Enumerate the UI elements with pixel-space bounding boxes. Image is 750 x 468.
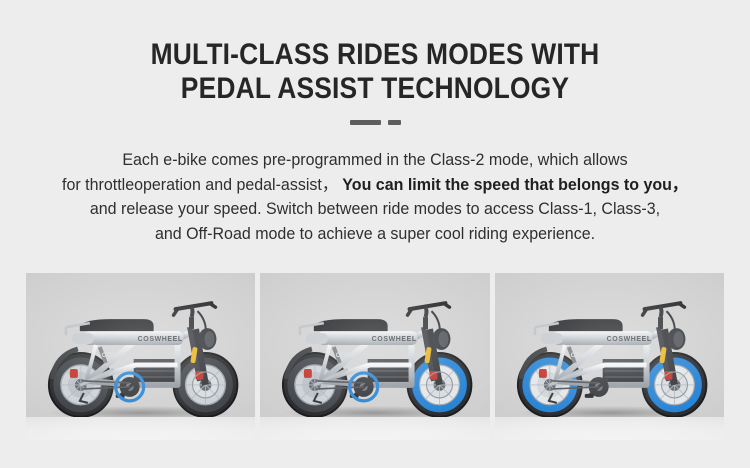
description-line-1: Each e-bike comes pre-programmed in the … (11, 148, 739, 173)
promo-banner: MULTI-CLASS RIDES MODES WITH PEDAL ASSIS… (0, 0, 750, 468)
class-2-mode-image[interactable]: COSWHEEL CT20 (26, 273, 255, 440)
page-title-line-1: MULTI-CLASS RIDES MODES WITH (45, 38, 705, 72)
description-text: Each e-bike comes pre-programmed in the … (11, 148, 739, 246)
off-road-mode-image[interactable]: COSWHEEL CT20 (495, 273, 724, 440)
studio-floor-3 (495, 417, 724, 440)
product-image-gallery: COSWHEEL CT20 (26, 273, 724, 440)
svg-text:COSWHEEL: COSWHEEL (372, 336, 417, 343)
title-divider (0, 120, 750, 125)
svg-text:CT20: CT20 (336, 353, 351, 359)
svg-text:CT20: CT20 (570, 353, 585, 359)
page-title: MULTI-CLASS RIDES MODES WITH PEDAL ASSIS… (45, 38, 705, 106)
svg-text:COSWHEEL: COSWHEEL (138, 336, 183, 343)
ebike-illustration-3: COSWHEEL CT20 (495, 273, 724, 440)
description-line-2: for throttleoperation and pedal-assist， … (11, 173, 739, 198)
svg-text:COSWHEEL: COSWHEEL (606, 336, 651, 343)
page-title-line-2: PEDAL ASSIST TECHNOLOGY (45, 72, 705, 106)
svg-text:CT20: CT20 (102, 353, 117, 359)
ebike-illustration-1: COSWHEEL CT20 (26, 273, 255, 440)
divider-bar-long (350, 120, 381, 125)
description-line-4: and Off-Road mode to achieve a super coo… (11, 222, 739, 247)
class-1-mode-image[interactable]: COSWHEEL CT20 (260, 273, 489, 440)
ebike-illustration-2: COSWHEEL CT20 (260, 273, 489, 440)
description-line-2-normal: for throttleoperation and pedal-assist， (62, 176, 338, 194)
studio-floor-1 (26, 417, 255, 440)
studio-floor-2 (260, 417, 489, 440)
description-line-2-bold: You can limit the speed that belongs to … (342, 176, 688, 194)
divider-bar-short (388, 120, 401, 125)
description-line-3: and release your speed. Switch between r… (11, 197, 739, 222)
